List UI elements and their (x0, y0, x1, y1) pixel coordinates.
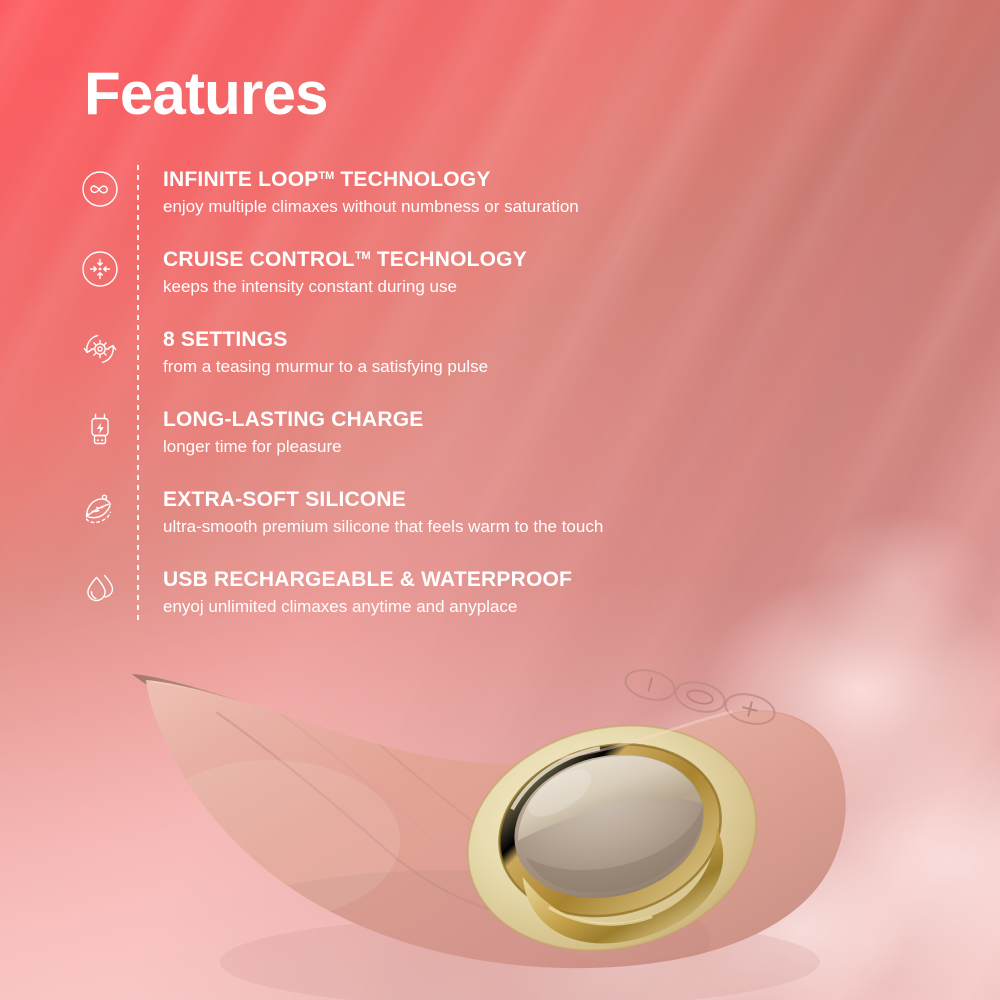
feature-row: 8 SETTINGS from a teasing murmur to a sa… (78, 323, 778, 403)
feature-text: INFINITE LOOPTM TECHNOLOGY enjoy multipl… (163, 163, 579, 219)
feature-row: EXTRA-SOFT SILICONE ultra-smooth premium… (78, 483, 778, 563)
feature-title-main: CRUISE CONTROL (163, 248, 355, 271)
battery-charge-icon (78, 407, 122, 451)
feather-icon (78, 487, 122, 531)
feature-subtitle: enjoy multiple climaxes without numbness… (163, 195, 579, 219)
features-list: INFINITE LOOPTM TECHNOLOGY enjoy multipl… (78, 163, 778, 643)
feature-subtitle: longer time for pleasure (163, 435, 423, 459)
feature-title: 8 SETTINGS (163, 323, 488, 353)
power-glyph (649, 678, 652, 691)
product-image (120, 640, 860, 1000)
feature-title-suffix: TECHNOLOGY (334, 168, 490, 191)
cruise-control-icon (78, 247, 122, 291)
feature-title-main: EXTRA-SOFT SILICONE (163, 488, 406, 511)
feature-title-main: 8 SETTINGS (163, 328, 288, 351)
feature-text: EXTRA-SOFT SILICONE ultra-smooth premium… (163, 483, 603, 539)
page-title: Features (84, 64, 328, 124)
feature-subtitle: enyoj unlimited climaxes anytime and any… (163, 595, 572, 619)
feature-title: INFINITE LOOPTM TECHNOLOGY (163, 163, 579, 193)
logo-button[interactable] (672, 677, 727, 716)
feature-row: CRUISE CONTROLTM TECHNOLOGY keeps the in… (78, 243, 778, 323)
trademark-mark: TM (318, 170, 334, 182)
feature-title: LONG-LASTING CHARGE (163, 403, 423, 433)
infinity-loop-icon (78, 167, 122, 211)
trademark-mark: TM (355, 250, 371, 262)
logo-glyph (686, 688, 714, 706)
feature-text: USB RECHARGEABLE & WATERPROOF enyoj unli… (163, 563, 572, 619)
feature-text: 8 SETTINGS from a teasing murmur to a sa… (163, 323, 488, 379)
feature-title-main: LONG-LASTING CHARGE (163, 408, 423, 431)
feature-subtitle: ultra-smooth premium silicone that feels… (163, 515, 603, 539)
feature-row: INFINITE LOOPTM TECHNOLOGY enjoy multipl… (78, 163, 778, 243)
feature-row: USB RECHARGEABLE & WATERPROOF enyoj unli… (78, 563, 778, 643)
settings-gear-icon (78, 327, 122, 371)
water-droplet-icon (78, 567, 122, 611)
feature-title: USB RECHARGEABLE & WATERPROOF (163, 563, 572, 593)
feature-title: CRUISE CONTROLTM TECHNOLOGY (163, 243, 527, 273)
feature-text: LONG-LASTING CHARGE longer time for plea… (163, 403, 423, 459)
feature-title: EXTRA-SOFT SILICONE (163, 483, 603, 513)
feature-title-main: INFINITE LOOP (163, 168, 318, 191)
feature-poster: Features INFINITE LOOPTM TECHNOLOGY enjo… (0, 0, 1000, 1000)
feature-title-main: USB RECHARGEABLE & WATERPROOF (163, 568, 572, 591)
feature-row: LONG-LASTING CHARGE longer time for plea… (78, 403, 778, 483)
feature-text: CRUISE CONTROLTM TECHNOLOGY keeps the in… (163, 243, 527, 299)
feature-subtitle: from a teasing murmur to a satisfying pu… (163, 355, 488, 379)
feature-subtitle: keeps the intensity constant during use (163, 275, 527, 299)
feature-title-suffix: TECHNOLOGY (371, 248, 527, 271)
